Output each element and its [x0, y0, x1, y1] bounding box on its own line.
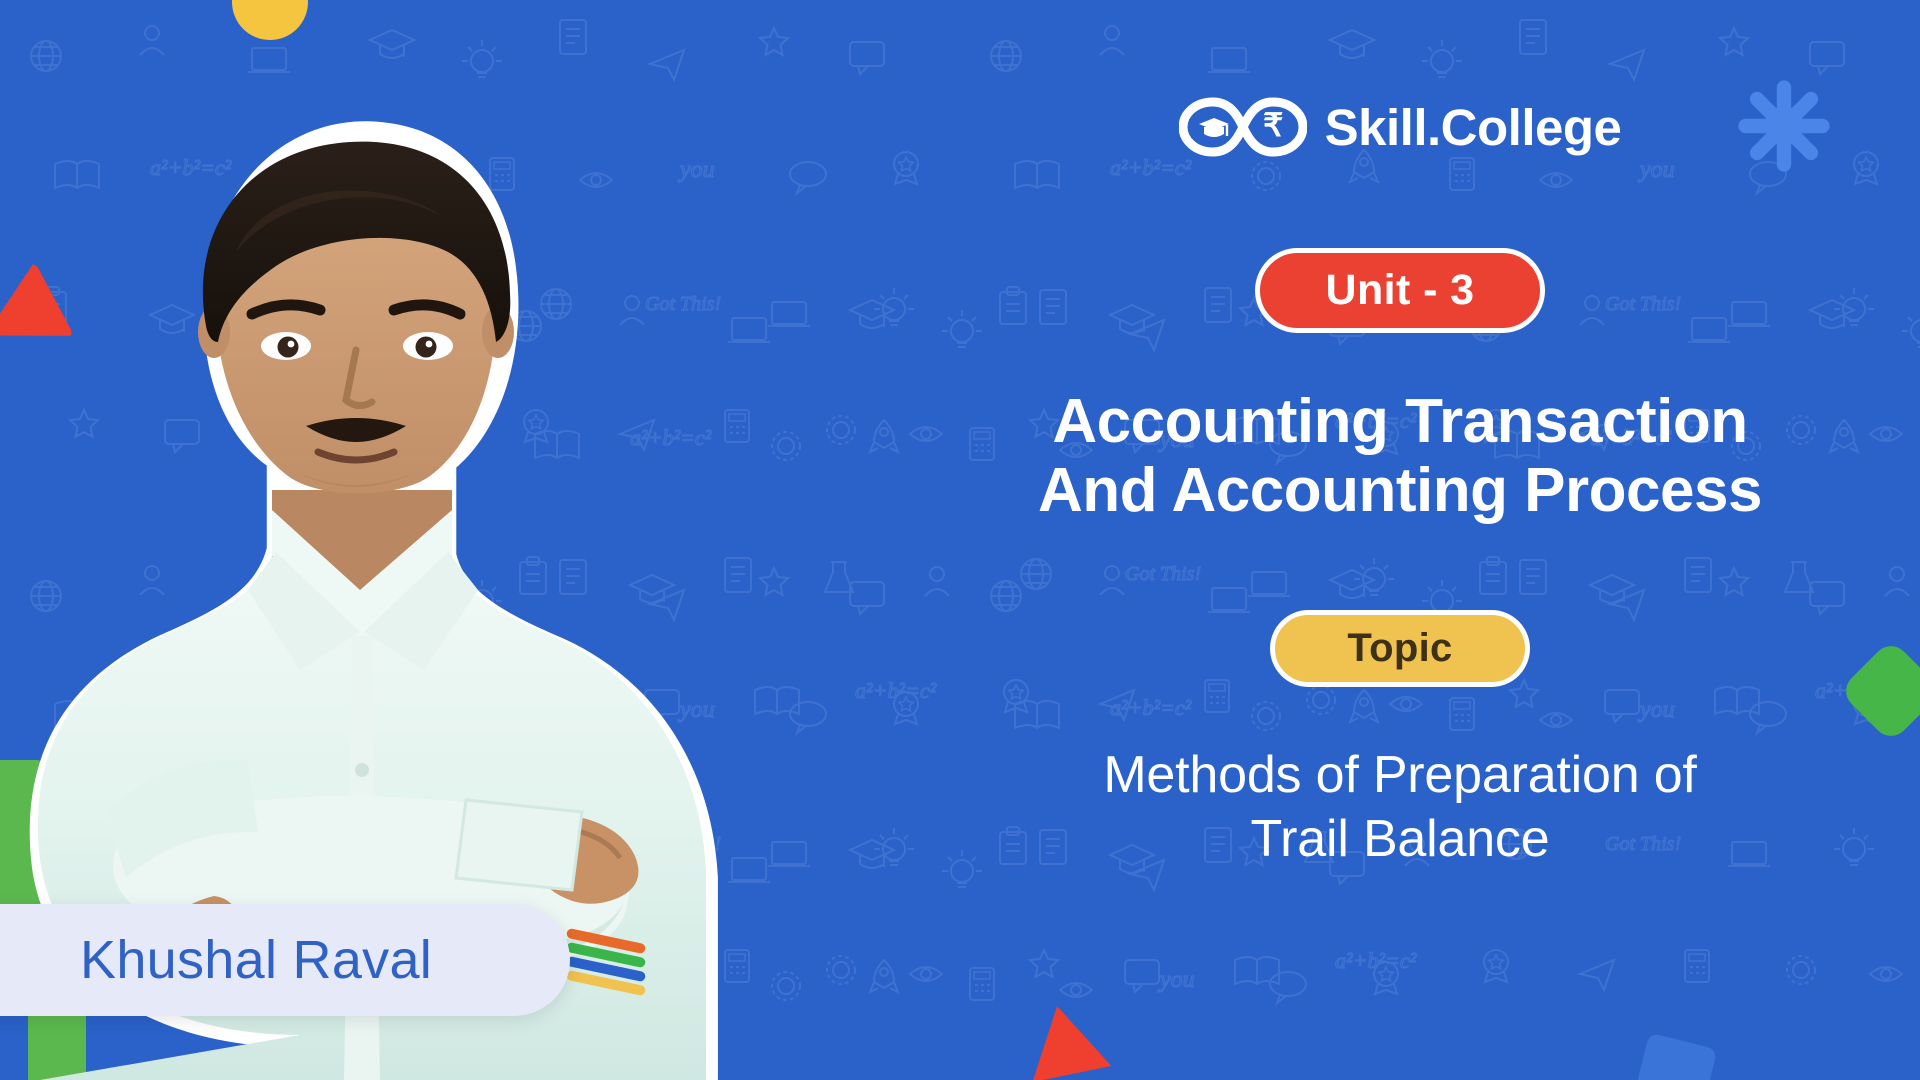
- slide-subtitle-line-1: Methods of Preparation of: [880, 743, 1920, 807]
- slide-title: Accounting Transaction And Accounting Pr…: [880, 387, 1920, 526]
- brand-name-label: Skill.College: [1325, 98, 1622, 157]
- unit-badge: Unit - 3: [1255, 248, 1546, 333]
- brand-logo: ₹ Skill.College: [1179, 96, 1622, 158]
- slide-title-line-2: And Accounting Process: [880, 456, 1920, 525]
- svg-text:₹: ₹: [1263, 107, 1283, 143]
- slide-content-column: ₹ Skill.College Unit - 3 Accounting Tran…: [880, 0, 1920, 1080]
- topic-badge-label: Topic: [1347, 626, 1452, 671]
- slide-subtitle: Methods of Preparation of Trail Balance: [880, 743, 1920, 872]
- slide-canvas: a²+b²=c² you Got This!: [0, 0, 1920, 1080]
- presenter-name-pill: Khushal Raval: [0, 904, 570, 1016]
- presenter-name-label: Khushal Raval: [80, 929, 432, 991]
- topic-badge: Topic: [1270, 610, 1529, 687]
- unit-badge-label: Unit - 3: [1326, 266, 1475, 315]
- infinity-graduation-rupee-icon: ₹: [1179, 96, 1307, 158]
- slide-subtitle-line-2: Trail Balance: [880, 807, 1920, 871]
- slide-title-line-1: Accounting Transaction: [880, 387, 1920, 456]
